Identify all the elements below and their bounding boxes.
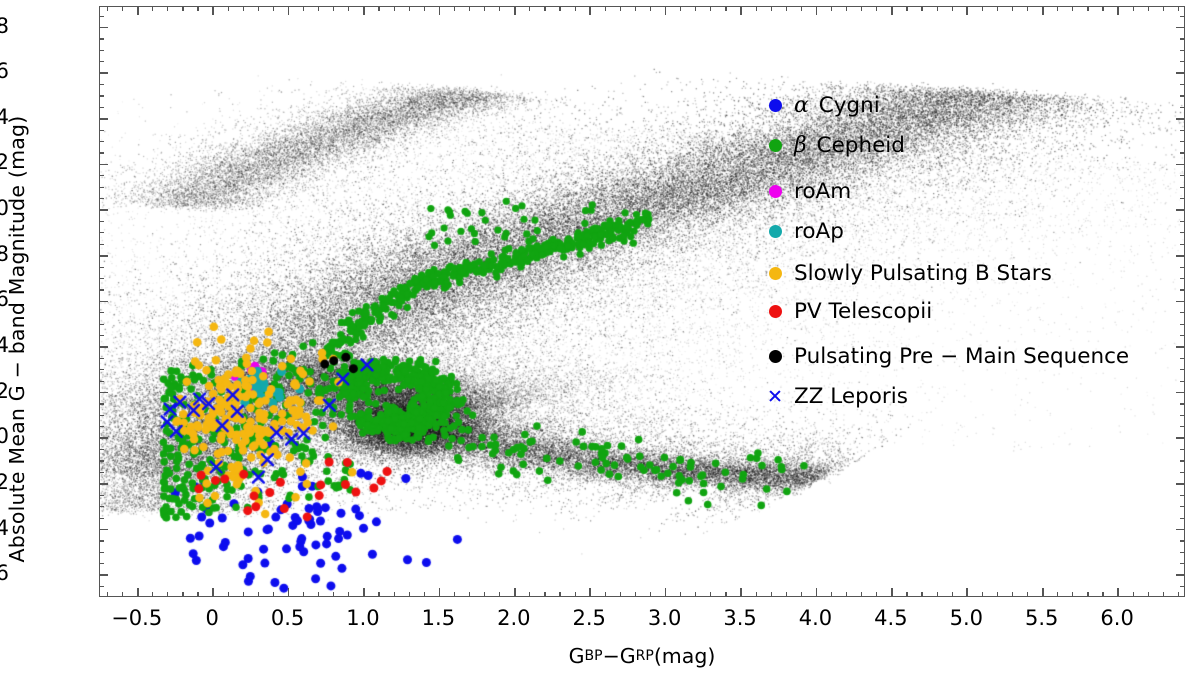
- y-tick-minor: [99, 369, 104, 370]
- x-tick-major-top: [1117, 6, 1119, 15]
- y-tick-minor-right: [1180, 415, 1185, 416]
- x-tick-minor: [695, 592, 696, 597]
- y-tick-minor: [99, 267, 104, 268]
- x-tick-minor: [303, 592, 304, 597]
- x-tick-minor: [906, 592, 907, 597]
- x-tick-major-top: [665, 6, 667, 15]
- dot-icon: [769, 225, 782, 238]
- dot-icon: [769, 185, 782, 198]
- y-tick-minor: [99, 312, 104, 313]
- x-tick-minor-top: [906, 6, 907, 11]
- y-tick-minor: [99, 244, 104, 245]
- x-tick-major: [137, 588, 139, 597]
- x-tick-minor-top: [1072, 6, 1073, 11]
- x-tick-minor-top: [1087, 6, 1088, 11]
- y-tick-minor-right: [1180, 38, 1185, 39]
- legend-label-text: ZZ Leporis: [794, 384, 908, 409]
- y-tick-minor: [99, 152, 104, 153]
- y-tick-minor: [99, 84, 104, 85]
- x-tick-minor: [1012, 592, 1013, 597]
- x-tick-minor: [484, 592, 485, 597]
- y-tick-minor-right: [1180, 175, 1185, 176]
- y-tick-major-right: [1176, 164, 1185, 166]
- y-tick-major: [99, 574, 108, 576]
- y-tick-major: [99, 27, 108, 29]
- legend-label: Slowly Pulsating B Stars: [788, 261, 1052, 286]
- legend-label: α Cygni: [788, 93, 880, 118]
- y-tick-label: 16: [0, 61, 9, 82]
- y-tick-minor: [99, 187, 104, 188]
- x-tick-minor: [469, 592, 470, 597]
- x-tick-major: [439, 588, 441, 597]
- x-tick-minor: [258, 592, 259, 597]
- legend-dot-icon: [762, 343, 788, 369]
- x-tick-minor: [861, 592, 862, 597]
- y-tick-minor-right: [1180, 16, 1185, 17]
- y-tick-label: −4: [0, 518, 9, 539]
- y-tick-minor-right: [1180, 84, 1185, 85]
- y-tick-label: 4: [0, 335, 9, 356]
- x-tick-minor-top: [1012, 6, 1013, 11]
- x-tick-label: 6.0: [1100, 608, 1133, 629]
- x-tick-major: [665, 588, 667, 597]
- x-tick-minor-top: [1057, 6, 1058, 11]
- y-tick-minor: [99, 540, 104, 541]
- y-tick-minor: [99, 198, 104, 199]
- x-tick-minor-top: [1178, 6, 1179, 11]
- x-tick-minor: [182, 592, 183, 597]
- x-tick-minor: [1087, 592, 1088, 597]
- y-tick-minor: [99, 324, 104, 325]
- y-tick-major: [99, 483, 108, 485]
- x-tick-minor: [499, 592, 500, 597]
- x-tick-minor: [409, 592, 410, 597]
- x-tick-minor: [167, 592, 168, 597]
- x-tick-minor-top: [243, 6, 244, 11]
- y-tick-major: [99, 164, 108, 166]
- y-tick-label: 18: [0, 16, 9, 37]
- x-tick-minor: [529, 592, 530, 597]
- y-tick-minor: [99, 358, 104, 359]
- x-tick-minor-top: [182, 6, 183, 11]
- y-tick-minor: [99, 232, 104, 233]
- y-tick-minor: [99, 381, 104, 382]
- x-tick-major: [966, 588, 968, 597]
- y-tick-label: 12: [0, 152, 9, 173]
- x-tick-minor-top: [424, 6, 425, 11]
- y-tick-label: 10: [0, 198, 9, 219]
- x-tick-minor-top: [499, 6, 500, 11]
- x-axis-title-minus: −: [603, 644, 620, 668]
- legend-cross-icon: [762, 383, 788, 409]
- x-tick-major-top: [816, 6, 818, 15]
- y-tick-minor-right: [1180, 267, 1185, 268]
- x-tick-minor-top: [937, 6, 938, 11]
- y-tick-minor-right: [1180, 187, 1185, 188]
- x-axis-title: GBP − GRP (mag): [99, 640, 1185, 672]
- x-tick-minor: [348, 592, 349, 597]
- x-tick-minor: [725, 592, 726, 597]
- y-tick-minor-right: [1180, 403, 1185, 404]
- y-tick-minor-right: [1180, 563, 1185, 564]
- legend-label-greek: β: [794, 133, 810, 158]
- legend-item[interactable]: α Cygni: [762, 92, 880, 118]
- x-tick-major-top: [363, 6, 365, 15]
- x-tick-minor: [1102, 592, 1103, 597]
- x-tick-label: 1.5: [422, 608, 455, 629]
- y-tick-minor-right: [1180, 460, 1185, 461]
- color-magnitude-diagram: Absolute Mean G − band Magnitude (mag) G…: [0, 0, 1200, 678]
- x-tick-minor: [1072, 592, 1073, 597]
- legend-label-text: Slowly Pulsating B Stars: [794, 261, 1052, 286]
- x-tick-minor: [559, 592, 560, 597]
- x-tick-major-top: [966, 6, 968, 15]
- x-tick-minor-top: [559, 6, 560, 11]
- x-tick-minor: [1057, 592, 1058, 597]
- x-tick-minor: [1133, 592, 1134, 597]
- y-tick-minor-right: [1180, 50, 1185, 51]
- legend-dot-icon: [762, 92, 788, 118]
- y-tick-minor: [99, 38, 104, 39]
- x-tick-minor-top: [756, 6, 757, 11]
- legend-item[interactable]: roAp: [762, 218, 844, 244]
- x-tick-minor: [1027, 592, 1028, 597]
- y-tick-minor-right: [1180, 152, 1185, 153]
- x-tick-minor-top: [318, 6, 319, 11]
- x-tick-minor: [152, 592, 153, 597]
- x-tick-minor-top: [107, 6, 108, 11]
- x-tick-minor: [318, 592, 319, 597]
- x-tick-major-top: [514, 6, 516, 15]
- legend-item[interactable]: Slowly Pulsating B Stars: [762, 260, 1052, 286]
- legend-label: roAp: [788, 219, 844, 244]
- x-tick-label: 3.0: [648, 608, 681, 629]
- x-tick-minor: [197, 592, 198, 597]
- y-tick-major: [99, 301, 108, 303]
- x-tick-minor-top: [725, 6, 726, 11]
- x-tick-minor-top: [122, 6, 123, 11]
- y-tick-minor: [99, 506, 104, 507]
- y-tick-minor: [99, 130, 104, 131]
- x-tick-minor-top: [469, 6, 470, 11]
- legend-label-greek: α: [794, 93, 812, 118]
- x-tick-minor-top: [831, 6, 832, 11]
- x-tick-minor: [424, 592, 425, 597]
- y-tick-minor-right: [1180, 552, 1185, 553]
- y-tick-minor-right: [1180, 449, 1185, 450]
- y-tick-major-right: [1176, 346, 1185, 348]
- y-tick-major-right: [1176, 255, 1185, 257]
- y-tick-minor: [99, 563, 104, 564]
- y-tick-minor-right: [1180, 95, 1185, 96]
- y-tick-minor-right: [1180, 506, 1185, 507]
- y-tick-major: [99, 209, 108, 211]
- x-tick-minor: [394, 592, 395, 597]
- y-tick-minor: [99, 335, 104, 336]
- legend-item[interactable]: PV Telescopii: [762, 298, 932, 324]
- x-tick-minor: [846, 592, 847, 597]
- x-axis-title-unit: (mag): [654, 644, 716, 668]
- x-tick-label: 4.0: [799, 608, 832, 629]
- y-tick-minor-right: [1180, 244, 1185, 245]
- x-tick-major-top: [439, 6, 441, 15]
- x-tick-minor: [771, 592, 772, 597]
- y-tick-minor: [99, 278, 104, 279]
- y-tick-label: −2: [0, 472, 9, 493]
- x-tick-minor-top: [921, 6, 922, 11]
- legend-item[interactable]: ZZ Leporis: [762, 383, 908, 409]
- x-tick-minor-top: [952, 6, 953, 11]
- y-tick-minor-right: [1180, 141, 1185, 142]
- dot-icon: [769, 305, 782, 318]
- y-tick-minor-right: [1180, 221, 1185, 222]
- x-tick-minor-top: [454, 6, 455, 11]
- x-tick-minor: [982, 592, 983, 597]
- x-tick-minor-top: [680, 6, 681, 11]
- y-tick-label: 6: [0, 289, 9, 310]
- x-tick-label: 2.0: [497, 608, 530, 629]
- y-tick-minor-right: [1180, 495, 1185, 496]
- y-tick-minor: [99, 50, 104, 51]
- y-tick-minor-right: [1180, 278, 1185, 279]
- y-tick-minor: [99, 141, 104, 142]
- dot-icon: [769, 350, 782, 363]
- x-tick-major-top: [137, 6, 139, 15]
- x-tick-minor-top: [1027, 6, 1028, 11]
- x-tick-minor-top: [620, 6, 621, 11]
- plot-area: [99, 6, 1185, 597]
- y-tick-major: [99, 118, 108, 120]
- y-tick-minor: [99, 586, 104, 587]
- x-tick-minor-top: [786, 6, 787, 11]
- x-tick-minor-top: [529, 6, 530, 11]
- x-tick-minor: [122, 592, 123, 597]
- y-tick-minor: [99, 175, 104, 176]
- legend-label: PV Telescopii: [788, 299, 932, 324]
- x-tick-minor: [243, 592, 244, 597]
- x-tick-minor: [710, 592, 711, 597]
- y-tick-minor: [99, 552, 104, 553]
- y-tick-minor-right: [1180, 381, 1185, 382]
- x-tick-minor-top: [1102, 6, 1103, 11]
- y-tick-major-right: [1176, 209, 1185, 211]
- x-tick-label: 4.5: [874, 608, 907, 629]
- x-tick-major: [740, 588, 742, 597]
- x-tick-label: 0: [205, 608, 218, 629]
- x-tick-major-top: [212, 6, 214, 15]
- y-tick-minor: [99, 460, 104, 461]
- y-tick-minor-right: [1180, 426, 1185, 427]
- legend-label-text: roAp: [794, 219, 844, 244]
- x-tick-minor-top: [484, 6, 485, 11]
- y-tick-minor-right: [1180, 312, 1185, 313]
- x-tick-label: −0.5: [111, 608, 162, 629]
- x-tick-major: [816, 588, 818, 597]
- x-tick-minor-top: [197, 6, 198, 11]
- y-tick-minor-right: [1180, 107, 1185, 108]
- x-tick-minor-top: [1133, 6, 1134, 11]
- legend-label-text: PV Telescopii: [794, 299, 932, 324]
- x-tick-minor-top: [801, 6, 802, 11]
- legend-label: Pulsating Pre − Main Sequence: [788, 344, 1129, 369]
- x-tick-minor-top: [650, 6, 651, 11]
- x-tick-minor-top: [575, 6, 576, 11]
- x-tick-label: 5.0: [950, 608, 983, 629]
- x-tick-minor: [801, 592, 802, 597]
- x-tick-minor: [378, 592, 379, 597]
- x-tick-minor: [1178, 592, 1179, 597]
- x-tick-minor: [544, 592, 545, 597]
- x-tick-minor: [1148, 592, 1149, 597]
- x-tick-minor: [605, 592, 606, 597]
- y-tick-minor-right: [1180, 198, 1185, 199]
- y-tick-minor-right: [1180, 358, 1185, 359]
- x-tick-minor: [620, 592, 621, 597]
- x-tick-major: [1042, 588, 1044, 597]
- x-tick-minor: [756, 592, 757, 597]
- y-tick-minor: [99, 221, 104, 222]
- x-tick-minor-top: [303, 6, 304, 11]
- y-tick-minor-right: [1180, 61, 1185, 62]
- x-tick-major-top: [1042, 6, 1044, 15]
- x-tick-minor: [876, 592, 877, 597]
- y-tick-minor-right: [1180, 232, 1185, 233]
- x-tick-minor-top: [544, 6, 545, 11]
- y-tick-label: −6: [0, 563, 9, 584]
- y-tick-minor-right: [1180, 289, 1185, 290]
- y-tick-minor: [99, 16, 104, 17]
- y-tick-major: [99, 529, 108, 531]
- y-tick-minor: [99, 518, 104, 519]
- y-tick-minor: [99, 495, 104, 496]
- x-tick-minor-top: [1148, 6, 1149, 11]
- x-tick-minor-top: [378, 6, 379, 11]
- x-tick-major-top: [891, 6, 893, 15]
- y-tick-minor-right: [1180, 130, 1185, 131]
- dot-icon: [769, 267, 782, 280]
- y-tick-minor-right: [1180, 518, 1185, 519]
- y-tick-major-right: [1176, 529, 1185, 531]
- y-tick-minor: [99, 95, 104, 96]
- y-tick-minor: [99, 426, 104, 427]
- y-tick-major-right: [1176, 483, 1185, 485]
- x-tick-minor-top: [635, 6, 636, 11]
- y-tick-label: 14: [0, 107, 9, 128]
- y-tick-major: [99, 72, 108, 74]
- scatter-canvas: [100, 7, 1185, 597]
- x-tick-minor-top: [409, 6, 410, 11]
- y-tick-minor-right: [1180, 335, 1185, 336]
- legend-label-text: Cygni: [812, 93, 880, 118]
- y-tick-label: 0: [0, 426, 9, 447]
- x-tick-minor-top: [846, 6, 847, 11]
- x-tick-minor-top: [876, 6, 877, 11]
- y-tick-major: [99, 255, 108, 257]
- y-tick-minor: [99, 289, 104, 290]
- x-tick-label: 1.0: [346, 608, 379, 629]
- x-tick-minor-top: [152, 6, 153, 11]
- y-tick-minor-right: [1180, 586, 1185, 587]
- x-tick-major-top: [740, 6, 742, 15]
- x-axis-title-g1: G: [569, 644, 585, 668]
- y-tick-major: [99, 346, 108, 348]
- x-tick-major: [891, 588, 893, 597]
- x-tick-minor: [786, 592, 787, 597]
- y-tick-major-right: [1176, 437, 1185, 439]
- y-tick-minor-right: [1180, 472, 1185, 473]
- x-tick-minor-top: [605, 6, 606, 11]
- x-tick-minor-top: [710, 6, 711, 11]
- x-tick-minor-top: [982, 6, 983, 11]
- y-tick-minor-right: [1180, 324, 1185, 325]
- x-tick-minor: [635, 592, 636, 597]
- legend-label: ZZ Leporis: [788, 384, 908, 409]
- x-tick-minor-top: [1163, 6, 1164, 11]
- x-tick-minor: [454, 592, 455, 597]
- y-tick-minor: [99, 472, 104, 473]
- x-tick-minor-top: [333, 6, 334, 11]
- x-tick-minor-top: [695, 6, 696, 11]
- x-tick-minor-top: [771, 6, 772, 11]
- legend-dot-icon: [762, 298, 788, 324]
- x-tick-label: 3.5: [723, 608, 756, 629]
- y-tick-minor-right: [1180, 540, 1185, 541]
- x-tick-minor-top: [394, 6, 395, 11]
- x-tick-minor: [1163, 592, 1164, 597]
- x-tick-label: 5.5: [1025, 608, 1058, 629]
- y-tick-major-right: [1176, 392, 1185, 394]
- y-tick-minor: [99, 449, 104, 450]
- x-tick-minor-top: [258, 6, 259, 11]
- x-tick-minor: [228, 592, 229, 597]
- y-tick-minor: [99, 403, 104, 404]
- y-tick-minor: [99, 61, 104, 62]
- x-tick-minor: [333, 592, 334, 597]
- y-tick-major: [99, 437, 108, 439]
- x-tick-minor: [680, 592, 681, 597]
- legend-item[interactable]: roAm: [762, 178, 851, 204]
- dot-icon: [769, 139, 782, 152]
- y-tick-label: 8: [0, 244, 9, 265]
- x-tick-major: [288, 588, 290, 597]
- x-tick-major-top: [288, 6, 290, 15]
- x-tick-minor-top: [167, 6, 168, 11]
- x-tick-minor: [921, 592, 922, 597]
- x-tick-minor-top: [861, 6, 862, 11]
- x-tick-minor-top: [348, 6, 349, 11]
- legend-label: β Cepheid: [788, 133, 905, 158]
- x-tick-minor: [831, 592, 832, 597]
- x-tick-label: 0.5: [271, 608, 304, 629]
- x-axis-title-sub1: BP: [585, 648, 603, 664]
- y-tick-major-right: [1176, 574, 1185, 576]
- legend-label-text: Cepheid: [810, 133, 905, 158]
- y-tick-major: [99, 392, 108, 394]
- x-tick-minor: [952, 592, 953, 597]
- legend-dot-icon: [762, 132, 788, 158]
- x-tick-minor: [937, 592, 938, 597]
- y-tick-major-right: [1176, 27, 1185, 29]
- x-tick-major: [212, 588, 214, 597]
- legend-item[interactable]: Pulsating Pre − Main Sequence: [762, 343, 1129, 369]
- y-tick-major-right: [1176, 301, 1185, 303]
- legend-item[interactable]: β Cepheid: [762, 132, 905, 158]
- x-tick-label: 2.5: [573, 608, 606, 629]
- x-tick-minor: [575, 592, 576, 597]
- cross-icon: [768, 389, 782, 403]
- x-tick-major: [1117, 588, 1119, 597]
- x-tick-minor-top: [997, 6, 998, 11]
